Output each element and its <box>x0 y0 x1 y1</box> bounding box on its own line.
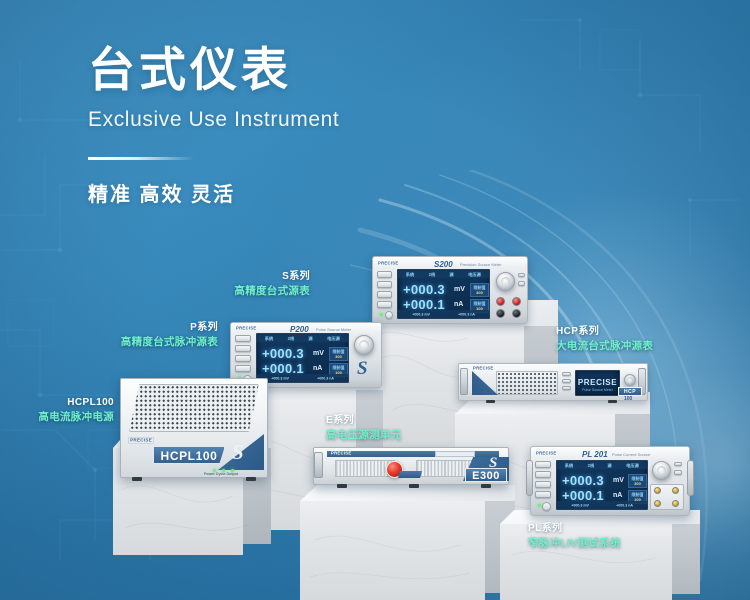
instrument-hcp-series[interactable]: PRECISE PRECISE Pulse Source Meter HCP 1… <box>458 363 648 401</box>
label-hcp-series: HCP系列 大电流台式脉冲源表 <box>556 325 686 353</box>
model-badge: E300 <box>465 468 507 482</box>
softkey-1[interactable] <box>377 271 392 278</box>
rack-foot <box>608 400 617 403</box>
rotary-knob[interactable] <box>354 335 374 355</box>
headline-block: 台式仪表 Exclusive Use Instrument 精准 高效 灵活 <box>88 46 518 207</box>
label-p-series-desc: 高精度台式脉冲源表 <box>108 335 218 349</box>
screen-brand-text: PRECISE <box>576 378 619 387</box>
display-screen[interactable]: 系统 2线 源 电压源 +000.3 mV +000.1 nA 限制值 300 … <box>256 333 349 383</box>
brand-label: PRECISE <box>331 451 351 455</box>
model-name: PL 201 <box>582 450 608 459</box>
model-subtitle: Precision Source Meter <box>460 262 502 267</box>
limit-1-value: 300 <box>629 481 646 486</box>
display-screen[interactable]: 系统 2线 源 电压源 +000.3 mV +000.1 nA 限制值 300 … <box>397 269 490 319</box>
rack-foot <box>486 400 495 403</box>
usb-port[interactable] <box>674 462 682 466</box>
instrument-s-series[interactable]: PRECISE S200 Precision Source Meter 系统 2… <box>372 256 528 324</box>
display-tab-3[interactable]: 电压源 <box>468 271 481 277</box>
aux-button[interactable] <box>674 470 682 475</box>
model-subtitle: Pulse Current Source <box>612 452 650 457</box>
promo-banner: 台式仪表 Exclusive Use Instrument 精准 高效 灵活 <box>0 0 750 600</box>
company-logo-icon: S <box>232 440 244 465</box>
power-button[interactable] <box>385 311 393 319</box>
label-s-series-desc: 高精度台式源表 <box>200 284 310 298</box>
display-tab-2[interactable]: 源 <box>308 335 312 341</box>
brand-label: PRECISE <box>473 367 493 371</box>
reading-primary: +000.3 <box>403 282 445 297</box>
usb-port[interactable] <box>518 273 525 277</box>
label-p-series-title: P系列 <box>108 321 218 335</box>
display-tab-3[interactable]: 电压源 <box>327 335 340 341</box>
display-tab-2[interactable]: 源 <box>449 271 453 277</box>
display-screen[interactable]: PRECISE Pulse Source Meter <box>575 370 620 396</box>
side-handle-right[interactable] <box>687 460 694 496</box>
footer-right: +000.3 nA <box>458 312 475 316</box>
label-pl-series: PL系列 窄脉冲LIV测试系统 <box>528 522 658 550</box>
display-tab-1[interactable]: 2线 <box>288 335 295 341</box>
limit-box-1: 限制值 300 <box>470 283 489 297</box>
instrument-pl-series[interactable]: PRECISE PL 201 Pulse Current Source 系统 2… <box>530 446 690 516</box>
display-tab-1[interactable]: 2线 <box>429 271 436 277</box>
model-badge: HCP <box>618 387 642 396</box>
brand-label: PRECISE <box>236 327 256 331</box>
softkey-4[interactable] <box>535 491 551 498</box>
vent-mesh <box>496 371 558 395</box>
label-p-series: P系列 高精度台式脉冲源表 <box>108 321 218 349</box>
chassis-foot <box>246 477 256 481</box>
rack-foot <box>337 484 347 488</box>
chassis-foot <box>132 477 142 481</box>
softkey-3[interactable] <box>562 386 571 390</box>
rack-foot <box>409 484 419 488</box>
accent-stripe <box>398 471 422 478</box>
reading-primary: +000.3 <box>562 473 604 488</box>
limit-box-1: 限制值 300 <box>628 474 647 488</box>
footer-left: +000.3 mV <box>412 312 430 316</box>
label-pl-series-title: PL系列 <box>528 522 658 536</box>
rotary-knob[interactable] <box>624 374 636 386</box>
screen-subtitle: Pulse Source Meter <box>576 388 619 392</box>
display-tab-2[interactable]: 源 <box>608 462 612 468</box>
jack-trig-out[interactable] <box>672 500 679 507</box>
model-number: 100 <box>624 396 632 402</box>
label-e-series-desc: 高电压源测单元 <box>326 428 436 442</box>
softkey-2[interactable] <box>235 345 251 352</box>
reading-secondary-unit: nA <box>613 492 622 499</box>
led-caption: Power Cycle Output <box>204 472 238 476</box>
rotary-knob[interactable] <box>496 272 515 291</box>
display-tab-0[interactable]: 系统 <box>264 335 273 341</box>
label-pl-series-desc: 窄脉冲LIV测试系统 <box>528 536 658 550</box>
jack-out-hi[interactable] <box>654 487 661 494</box>
footer-right: +000.3 nA <box>317 376 334 380</box>
softkey-2[interactable] <box>377 281 392 288</box>
limit-1-value: 300 <box>330 354 347 359</box>
jack-force-lo[interactable] <box>496 309 505 318</box>
power-led <box>380 313 383 316</box>
jack-trig-in[interactable] <box>654 500 661 507</box>
display-tab-0[interactable]: 系统 <box>405 271 414 277</box>
display-tab-3[interactable]: 电压源 <box>627 462 640 468</box>
label-s-series: S系列 高精度台式源表 <box>200 270 310 298</box>
jack-sense-lo[interactable] <box>512 309 521 318</box>
instrument-e-series[interactable]: PRECISE S E300 <box>313 447 509 485</box>
brand-label: PRECISE <box>128 437 154 443</box>
reading-secondary-unit: nA <box>454 301 463 308</box>
instrument-hcpl100[interactable]: PRECISE S HCPL100 Power Cycle Output <box>120 378 268 478</box>
brand-label: PRECISE <box>536 452 556 456</box>
limit-box-1: 限制值 300 <box>329 347 348 361</box>
softkey-4[interactable] <box>377 301 392 308</box>
power-led <box>538 504 541 507</box>
label-e-series-title: E系列 <box>326 414 436 428</box>
vent-mesh-panel <box>129 384 259 432</box>
headline-divider <box>88 157 194 160</box>
jack-sense-hi[interactable] <box>512 297 521 306</box>
model-badge: HCPL100 <box>153 446 225 464</box>
reading-secondary-unit: nA <box>313 365 322 372</box>
label-hcpl100-desc: 高电流脉冲电源 <box>10 410 114 424</box>
reading-primary-unit: mV <box>313 350 324 357</box>
headline-title-cn: 台式仪表 <box>88 46 518 93</box>
reading-primary-unit: mV <box>613 477 624 484</box>
label-s-series-title: S系列 <box>200 270 310 284</box>
display-tab-1[interactable]: 2线 <box>587 462 594 468</box>
rack-handle-left[interactable] <box>314 452 323 478</box>
display-screen[interactable]: 系统 2线 源 电压源 +000.3 mV +000.1 nA 限制值 300 … <box>556 460 648 510</box>
aux-button[interactable] <box>518 281 525 286</box>
brand-label: PRECISE <box>378 262 398 266</box>
rotary-knob[interactable] <box>652 461 671 480</box>
footer-left: +000.3 mV <box>571 503 589 507</box>
company-logo-icon: S <box>357 358 368 380</box>
model-subtitle: Pulse Source Meter <box>316 327 351 332</box>
softkey-2[interactable] <box>535 471 551 478</box>
pedestal-e-series <box>300 485 515 600</box>
label-hcp-series-title: HCP系列 <box>556 325 686 339</box>
footer-right: +000.3 nA <box>616 503 633 507</box>
rack-handle-left[interactable] <box>460 368 468 395</box>
display-tab-0[interactable]: 系统 <box>564 462 573 468</box>
power-button[interactable] <box>542 502 551 511</box>
softkey-3[interactable] <box>235 355 251 362</box>
softkey-2[interactable] <box>562 379 571 383</box>
label-hcpl100-title: HCPL100 <box>10 396 114 410</box>
label-e-series: E系列 高电压源测单元 <box>326 414 436 442</box>
softkey-1[interactable] <box>562 372 571 376</box>
reading-primary: +000.3 <box>262 346 304 361</box>
limit-1-value: 300 <box>471 290 488 295</box>
softkey-1[interactable] <box>535 461 551 468</box>
softkey-3[interactable] <box>535 481 551 488</box>
label-hcpl100: HCPL100 高电流脉冲电源 <box>10 396 114 424</box>
jack-force-hi[interactable] <box>496 297 505 306</box>
footer-left: +000.3 mV <box>271 376 289 380</box>
jack-out-lo[interactable] <box>672 487 679 494</box>
rack-foot <box>481 484 491 488</box>
model-name: S200 <box>434 260 453 269</box>
softkey-1[interactable] <box>235 335 251 342</box>
headline-subtitle: 精准 高效 灵活 <box>88 178 518 207</box>
label-plate <box>435 451 475 457</box>
reading-primary-unit: mV <box>454 286 465 293</box>
softkey-3[interactable] <box>377 291 392 298</box>
side-handle-left[interactable] <box>526 460 533 496</box>
label-hcp-series-desc: 大电流台式脉冲源表 <box>556 339 686 353</box>
headline-title-en: Exclusive Use Instrument <box>88 108 518 132</box>
softkey-4[interactable] <box>235 365 251 372</box>
